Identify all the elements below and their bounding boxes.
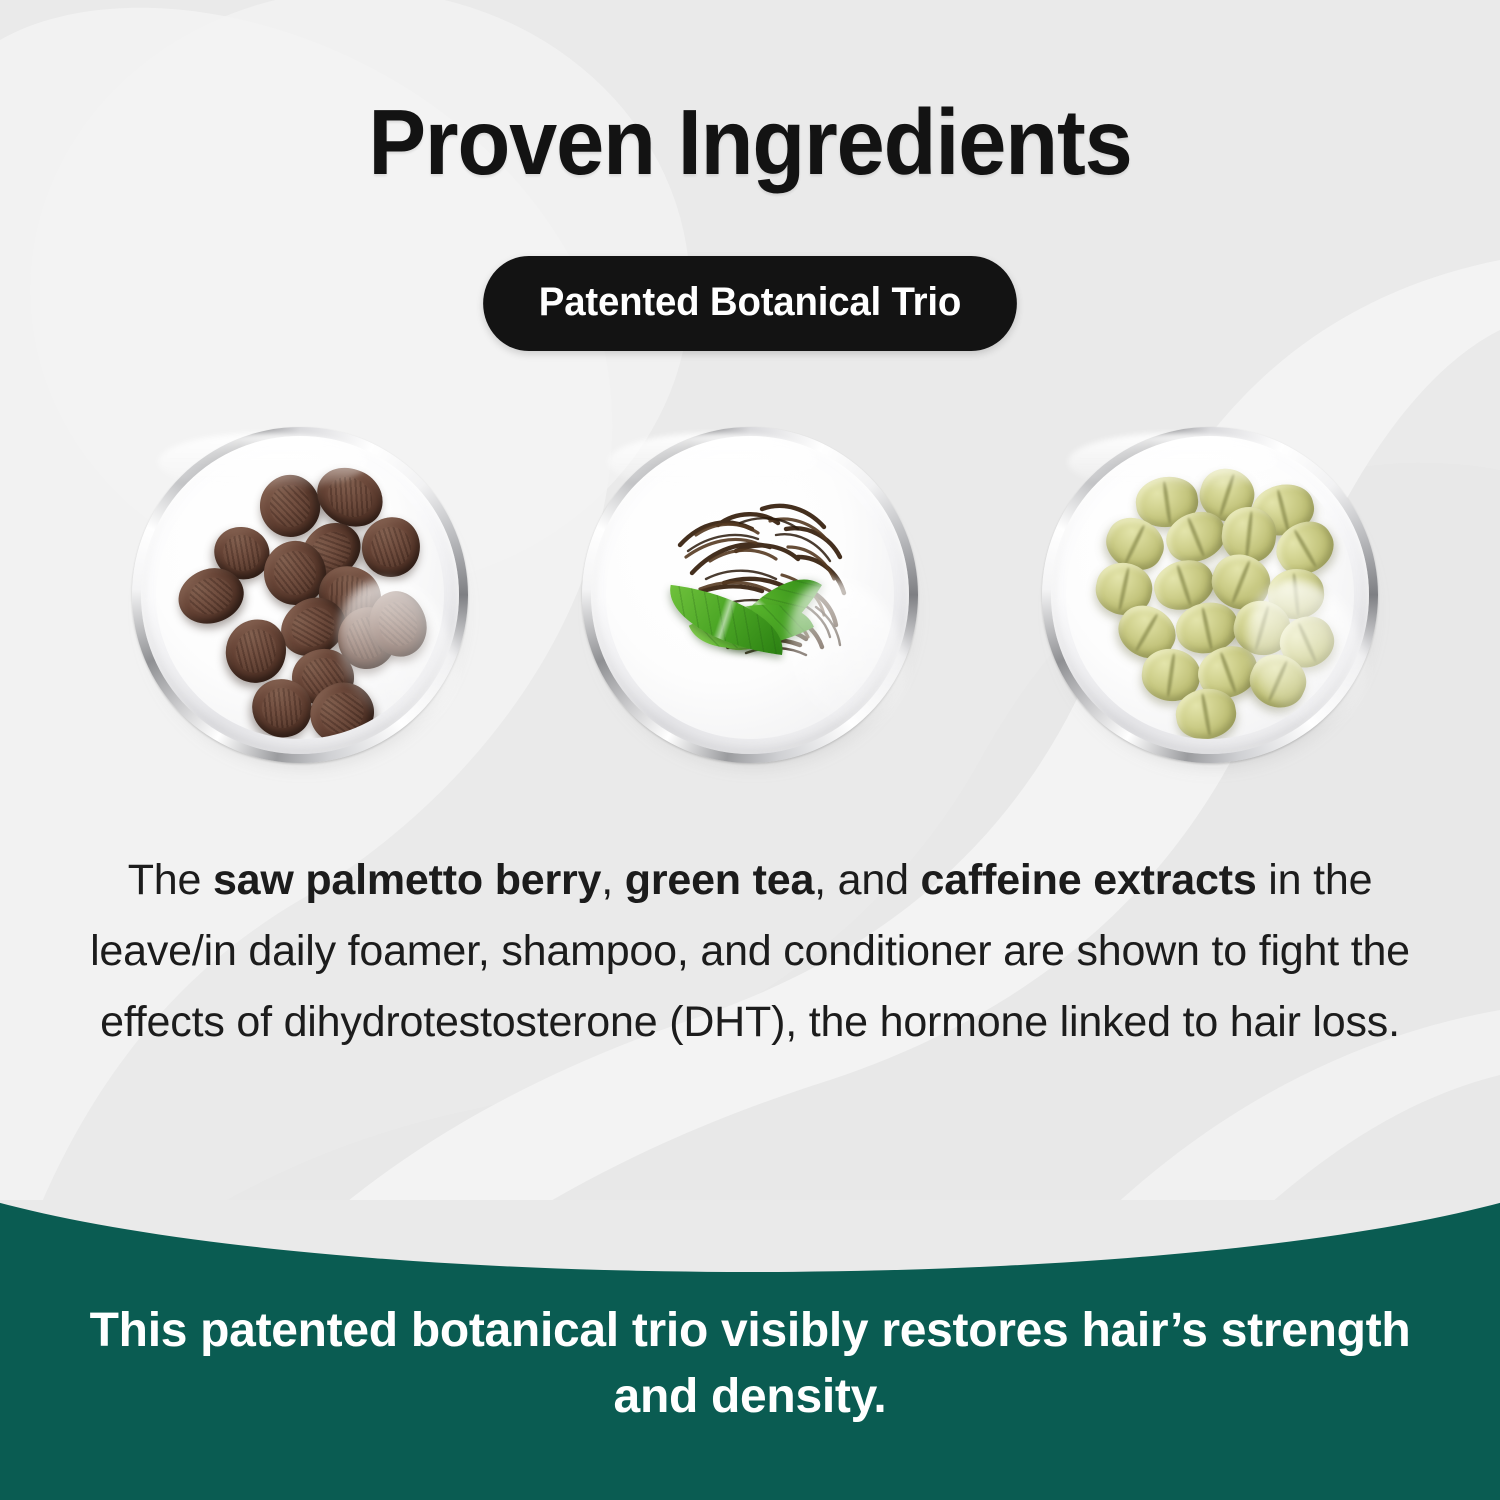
footer-band: This patented botanical trio visibly res… <box>0 1200 1500 1500</box>
page-title: Proven Ingredients <box>53 96 1448 189</box>
dish-glare <box>1068 433 1278 491</box>
body-paragraph: The saw palmetto berry, green tea, and c… <box>75 845 1425 1058</box>
badge-container: Patented Botanical Trio <box>0 256 1500 351</box>
dish-glare <box>158 433 368 491</box>
petri-dish-saw-palmetto <box>132 427 468 763</box>
dish-glare <box>608 433 818 491</box>
status-badge: Patented Botanical Trio <box>483 256 1017 351</box>
petri-dish-caffeine <box>1042 427 1378 763</box>
petri-dish-green-tea <box>582 427 918 763</box>
footer-message: This patented botanical trio visibly res… <box>80 1298 1420 1430</box>
ingredients-infographic: Proven Ingredients Patented Botanical Tr… <box>0 0 1500 1500</box>
footer-curve <box>0 1200 1500 1272</box>
